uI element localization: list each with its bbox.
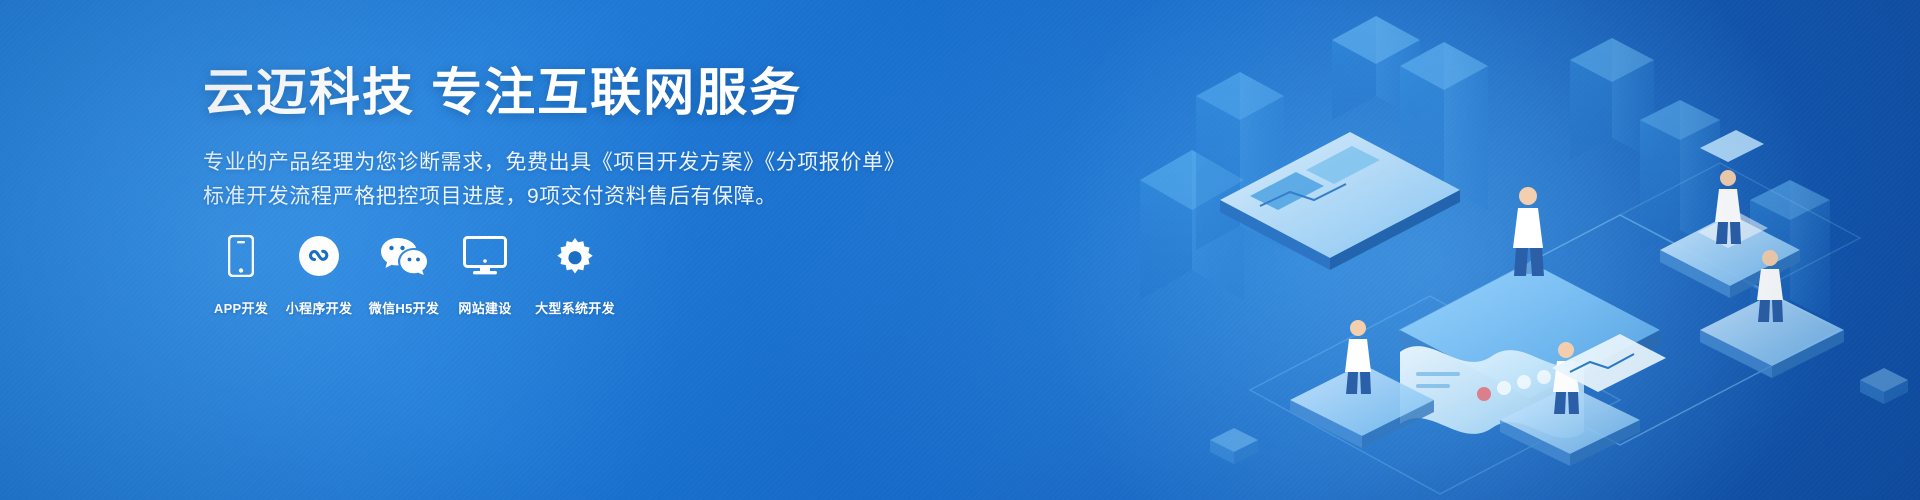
wechat-icon [380,232,428,280]
monitor-icon [463,232,507,280]
service-item-large-system[interactable]: 大型系统开发 [523,232,627,317]
mobile-phone-icon [228,232,254,280]
person-figure-center [1513,187,1544,276]
gear-icon [554,232,596,280]
hero-copy: 云迈科技 专注互联网服务 专业的产品经理为您诊断需求，免费出具《项目开发方案》《… [203,66,963,214]
service-list: APP开发 小程序开发 微信 [205,232,627,317]
service-label-website: 网站建设 [458,298,511,317]
service-item-miniprogram[interactable]: 小程序开发 [277,232,361,317]
service-label-app: APP开发 [214,298,268,317]
service-item-app[interactable]: APP开发 [205,232,277,317]
isometric-illustration [1100,0,1920,500]
page-title: 云迈科技 专注互联网服务 [203,66,963,120]
service-label-wechat-h5: 微信H5开发 [369,298,439,317]
service-label-large-system: 大型系统开发 [535,298,615,317]
service-label-miniprogram: 小程序开发 [286,298,353,317]
service-item-wechat-h5[interactable]: 微信H5开发 [361,232,447,317]
hero-banner: 云迈科技 专注互联网服务 专业的产品经理为您诊断需求，免费出具《项目开发方案》《… [0,0,1920,500]
hero-subtitle-line-1: 专业的产品经理为您诊断需求，免费出具《项目开发方案》《分项报价单》 [203,146,963,180]
hero-subtitle-line-2: 标准开发流程严格把控项目进度，9项交付资料售后有保障。 [203,180,963,214]
service-item-website[interactable]: 网站建设 [447,232,523,317]
mini-program-icon [298,232,340,280]
hero-subtitle: 专业的产品经理为您诊断需求，免费出具《项目开发方案》《分项报价单》 标准开发流程… [203,146,963,214]
